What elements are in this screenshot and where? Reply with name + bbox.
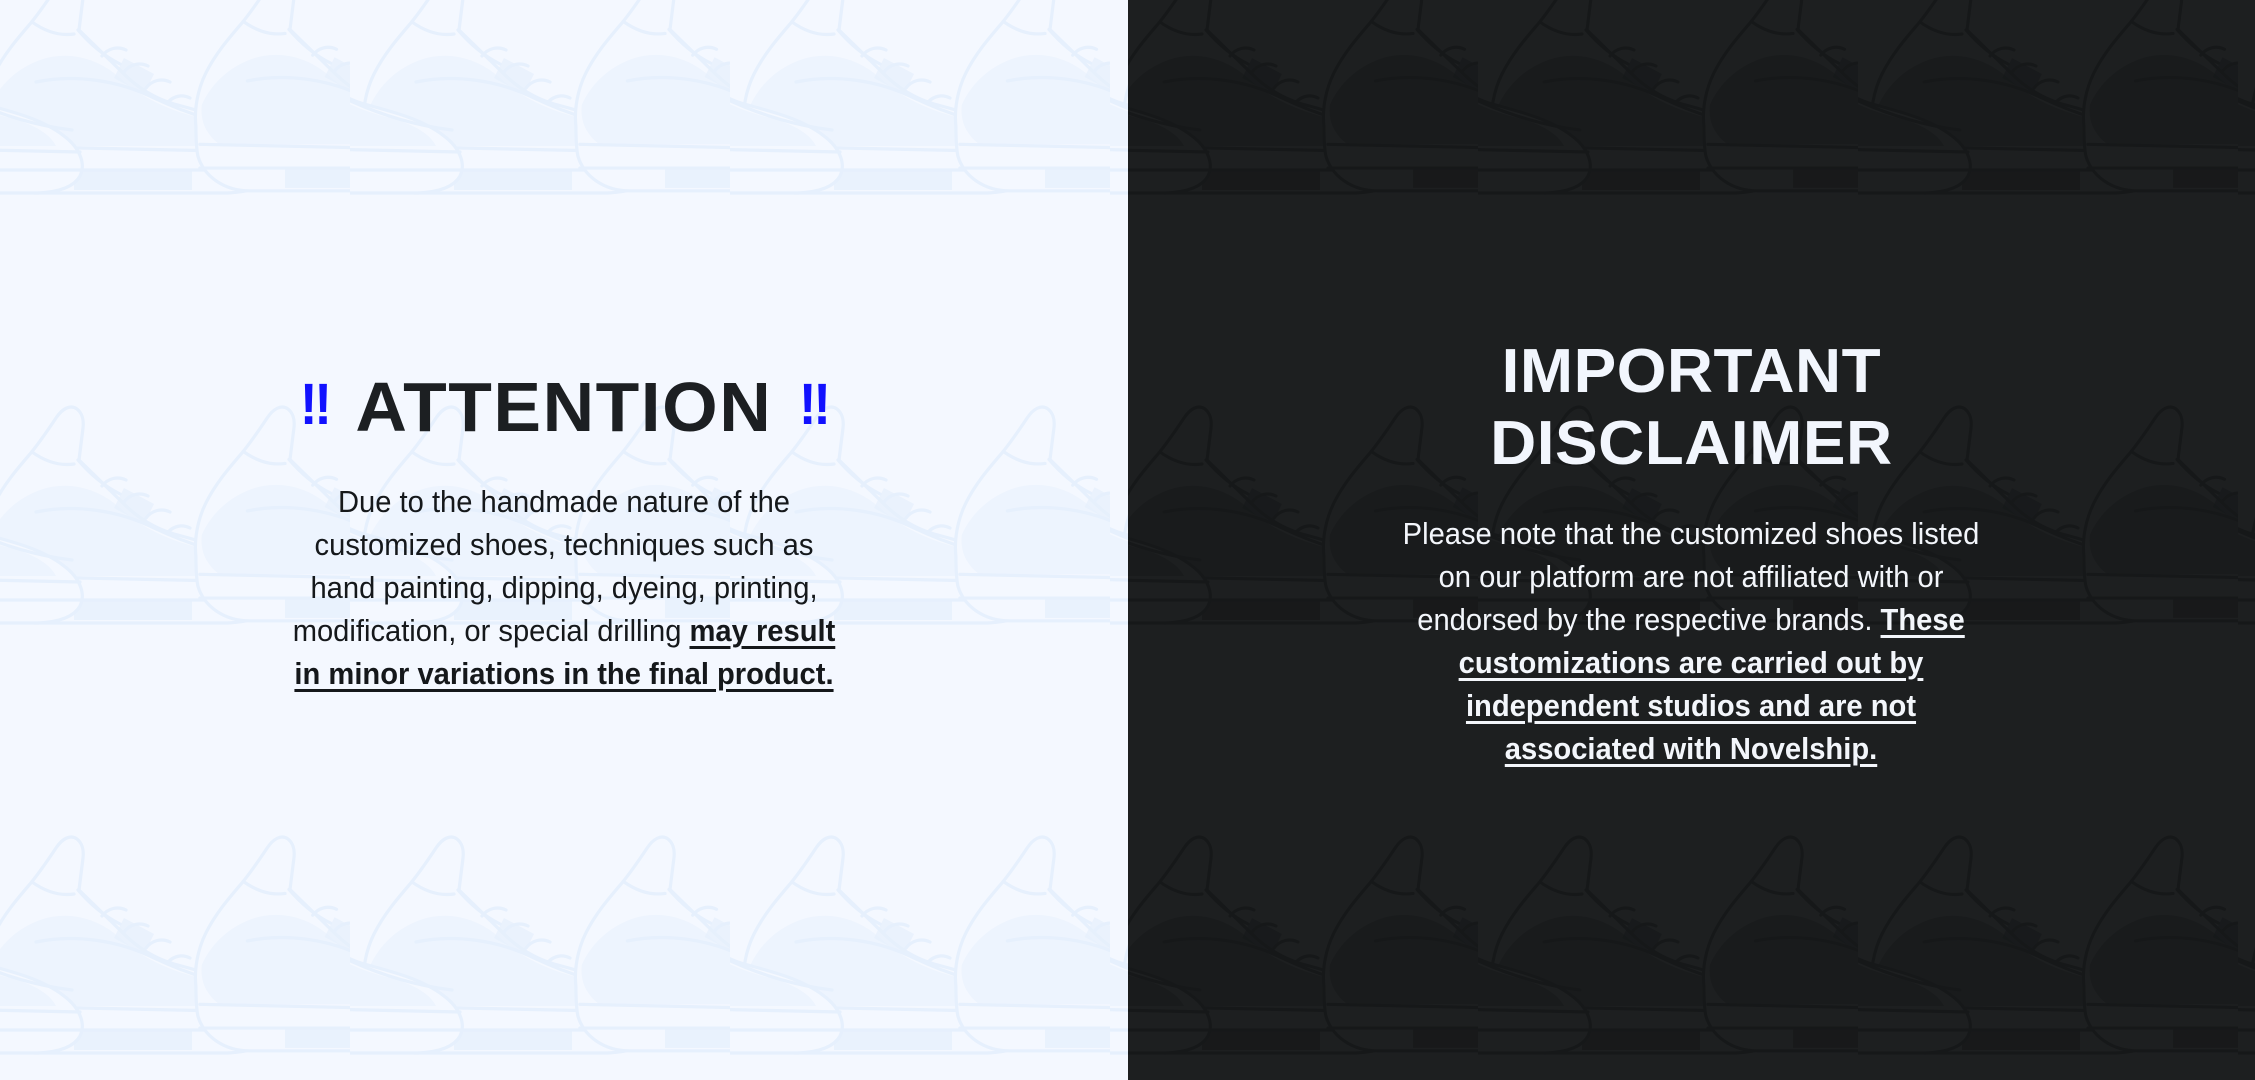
attention-panel: ‼ ATTENTION ‼ Due to the handmade nature… — [0, 0, 1128, 1080]
disclaimer-heading-line2: DISCLAIMER — [1490, 409, 1893, 478]
disclaimer-heading: IMPORTANT DISCLAIMER — [1490, 336, 1893, 480]
attention-heading: ‼ ATTENTION ‼ — [300, 372, 828, 442]
attention-content: ‼ ATTENTION ‼ Due to the handmade nature… — [0, 0, 1128, 695]
disclaimer-heading-line1: IMPORTANT — [1502, 337, 1881, 406]
disclaimer-panel: IMPORTANT DISCLAIMER Please note that th… — [1128, 0, 2255, 1080]
double-exclamation-icon-right: ‼ — [799, 376, 828, 434]
disclaimer-content: IMPORTANT DISCLAIMER Please note that th… — [1128, 0, 2255, 770]
disclaimer-banner: ‼ ATTENTION ‼ Due to the handmade nature… — [0, 0, 2255, 1080]
attention-heading-label: ATTENTION — [355, 372, 772, 442]
double-exclamation-icon-left: ‼ — [300, 376, 329, 434]
disclaimer-body: Please note that the customized shoes li… — [1400, 512, 1983, 770]
attention-body: Due to the handmade nature of the custom… — [282, 480, 846, 695]
